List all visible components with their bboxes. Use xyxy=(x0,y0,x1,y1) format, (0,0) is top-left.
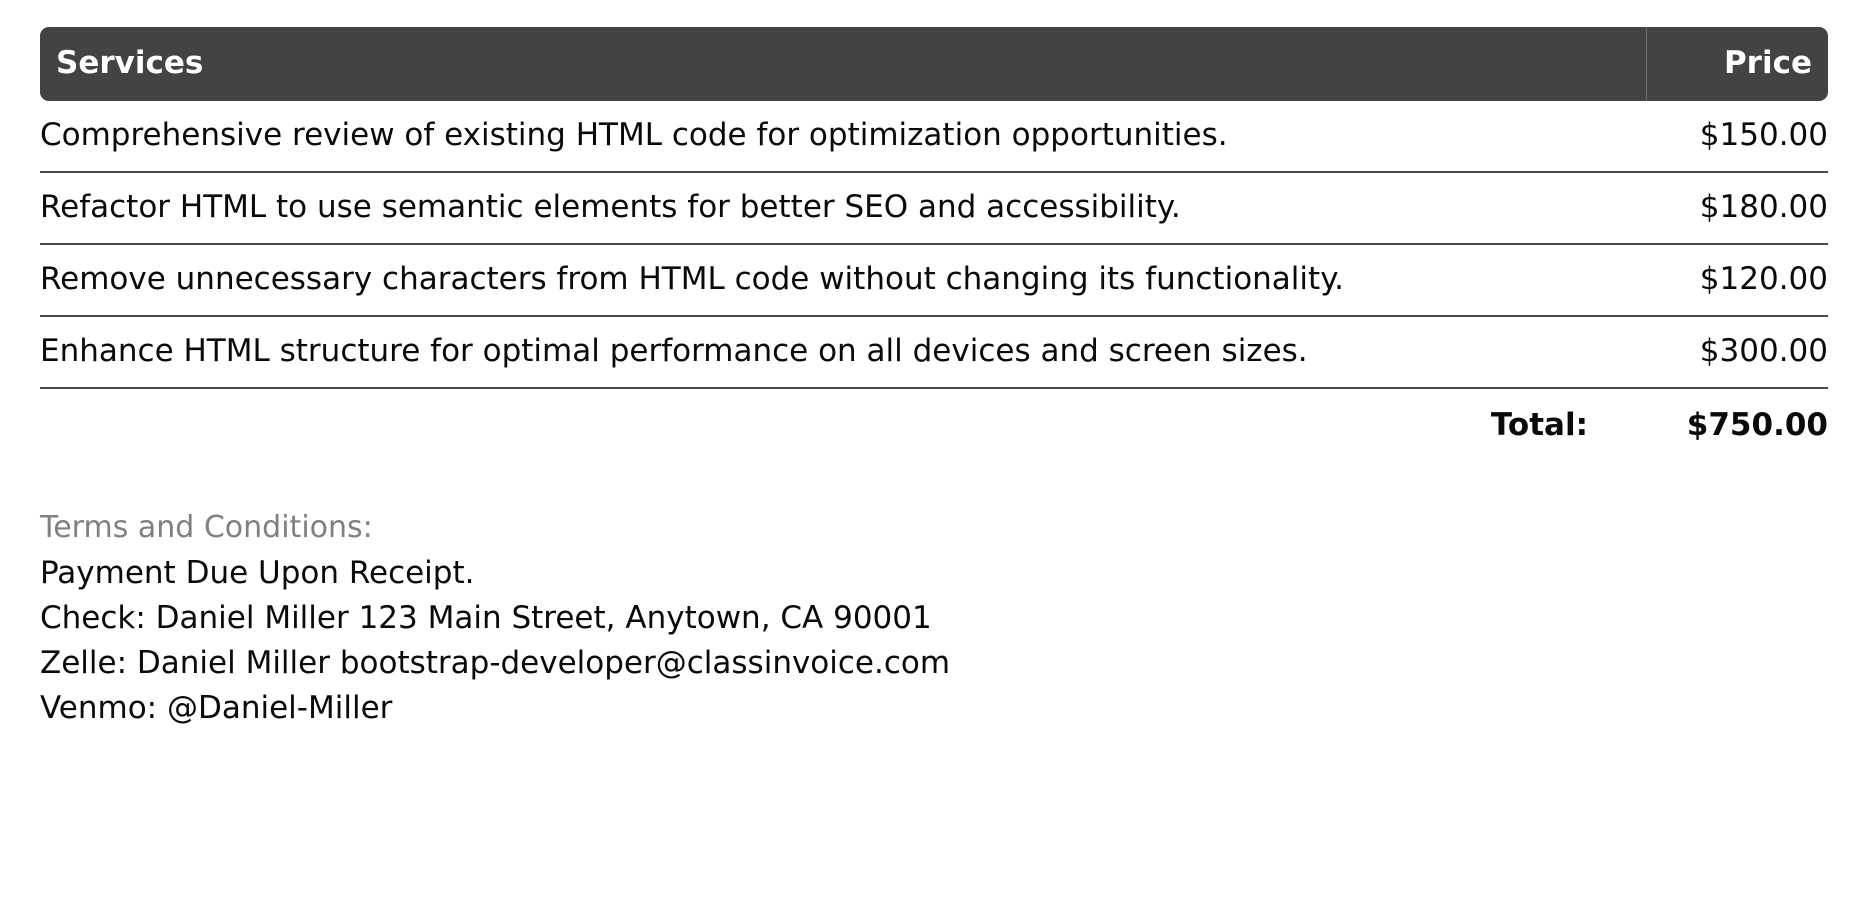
terms-line-check: Check: Daniel Miller 123 Main Street, An… xyxy=(40,596,1828,641)
service-description: Enhance HTML structure for optimal perfo… xyxy=(40,316,1646,388)
service-description: Remove unnecessary characters from HTML … xyxy=(40,244,1646,316)
terms-and-conditions-block: Terms and Conditions: Payment Due Upon R… xyxy=(40,505,1828,731)
total-amount: $750.00 xyxy=(1646,388,1828,461)
terms-heading: Terms and Conditions: xyxy=(40,505,1828,551)
table-row: Remove unnecessary characters from HTML … xyxy=(40,244,1828,316)
table-total-row: Total: $750.00 xyxy=(40,388,1828,461)
table-row: Enhance HTML structure for optimal perfo… xyxy=(40,316,1828,388)
terms-line-payment-due: Payment Due Upon Receipt. xyxy=(40,551,1828,596)
table-row: Comprehensive review of existing HTML co… xyxy=(40,101,1828,172)
column-header-services: Services xyxy=(40,27,1646,101)
service-price: $300.00 xyxy=(1646,316,1828,388)
service-description: Comprehensive review of existing HTML co… xyxy=(40,101,1646,172)
column-header-price: Price xyxy=(1646,27,1828,101)
invoice-services-section: Services Price Comprehensive review of e… xyxy=(0,27,1868,897)
terms-line-zelle: Zelle: Daniel Miller bootstrap-developer… xyxy=(40,641,1828,686)
service-description: Refactor HTML to use semantic elements f… xyxy=(40,172,1646,244)
service-price: $180.00 xyxy=(1646,172,1828,244)
service-price: $120.00 xyxy=(1646,244,1828,316)
services-price-table: Services Price Comprehensive review of e… xyxy=(40,27,1828,461)
terms-line-venmo: Venmo: @Daniel-Miller xyxy=(40,686,1828,731)
table-header: Services Price xyxy=(40,27,1828,101)
total-label: Total: xyxy=(40,388,1646,461)
table-body: Comprehensive review of existing HTML co… xyxy=(40,101,1828,461)
table-header-row: Services Price xyxy=(40,27,1828,101)
table-row: Refactor HTML to use semantic elements f… xyxy=(40,172,1828,244)
service-price: $150.00 xyxy=(1646,101,1828,172)
